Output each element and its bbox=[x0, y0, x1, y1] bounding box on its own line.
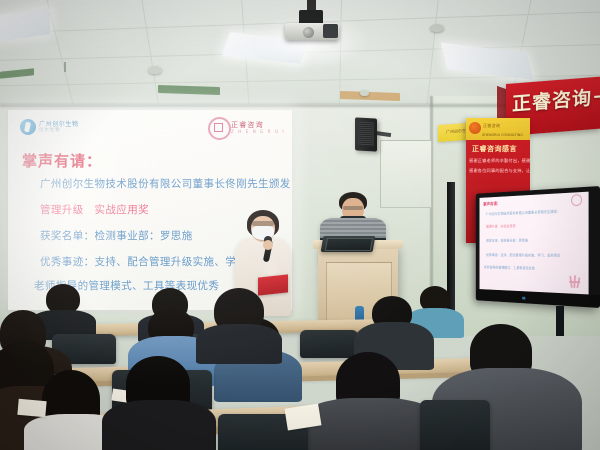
ceiling-projector bbox=[285, 8, 339, 42]
slide-logo-right-sub: Z H E N G R U I bbox=[231, 129, 285, 134]
tv-heading: 掌声有请： bbox=[483, 201, 500, 207]
presenter-hand bbox=[263, 240, 273, 250]
ceiling-hanger bbox=[64, 62, 66, 72]
poster-logo-icon bbox=[469, 122, 481, 134]
tv-power-led-icon bbox=[522, 297, 525, 300]
projector-rear bbox=[323, 24, 338, 38]
glasses-icon bbox=[343, 206, 363, 210]
tv-screen-content: 掌声有请： 广州创尔生物技术股份有限公司董事长佟刚先生颁发： 管理升级 实战应用… bbox=[480, 192, 589, 295]
laptop-screen bbox=[325, 238, 373, 251]
slide-line: 广州创尔生物技术股份有限公司董事长佟刚先生颁发： bbox=[40, 176, 292, 191]
wall-recess-panel bbox=[380, 140, 432, 208]
poster-brand: 正睿咨询 bbox=[483, 123, 500, 129]
chuanger-logo-icon bbox=[20, 119, 36, 135]
tv-line: 管理升级 实战应用奖 bbox=[486, 224, 515, 229]
tv-line: 优秀事迹：支持、配合管理升级实施、学习、运用项目 bbox=[486, 253, 560, 258]
slide-line: 管理升级 实战应用奖 bbox=[40, 202, 149, 217]
paper-sheet bbox=[17, 399, 46, 417]
poster-header-band: 正睿咨询 ZHENGRUI CONSULTING bbox=[466, 118, 530, 140]
podium-laptop bbox=[321, 236, 376, 252]
slide-line: 获奖名单：检测事业部：罗思施 bbox=[40, 228, 193, 243]
slide-heading: 掌声有请： bbox=[22, 150, 102, 171]
chair bbox=[300, 330, 358, 358]
smoke-detector-icon bbox=[360, 90, 369, 96]
slide-logo-left: 广州创尔生物 创尔生物 bbox=[20, 118, 92, 136]
slide-logo-right: 正睿咨询 Z H E N G R U I bbox=[208, 117, 282, 137]
poster-brand-sub: ZHENGRUI CONSULTING bbox=[482, 133, 523, 137]
tv-line: 获奖名单：检测事业部：罗思施 bbox=[486, 239, 528, 244]
chair bbox=[420, 400, 490, 450]
wall-tv-display: 掌声有请： 广州创尔生物技术股份有限公司董事长佟刚先生颁发： 管理升级 实战应用… bbox=[476, 186, 600, 308]
banner-text: 正睿咨询－广 bbox=[512, 80, 600, 116]
smoke-detector-icon bbox=[430, 24, 444, 32]
speaker-grill bbox=[358, 122, 374, 147]
tv-line: 老师指导的管理模式、工具等表现优秀 bbox=[484, 266, 535, 272]
slide-logo-left-sub: 创尔生物 bbox=[39, 127, 61, 133]
award-folder bbox=[258, 274, 288, 295]
zhengrui-logo-icon bbox=[208, 117, 231, 140]
tv-stamp-icon bbox=[568, 275, 581, 289]
tv-stand bbox=[556, 306, 564, 336]
tv-zhengrui-logo-icon bbox=[571, 194, 582, 206]
smoke-detector-icon bbox=[148, 66, 162, 74]
poster-line: 感谢正睿老师的辛勤付出，感谢公司领导的信任、支持和帮助！ bbox=[469, 158, 530, 164]
screenshot-root: 正睿咨询－广 广州创尔生物技术股份有限公司 正睿咨询 ZHENGRUI CONS… bbox=[0, 0, 600, 450]
poster-title: 正睿咨询感言 bbox=[472, 144, 517, 154]
tv-line: 广州创尔生物技术股份有限公司董事长佟刚先生颁发： bbox=[486, 210, 560, 217]
wall-speaker-icon bbox=[355, 117, 377, 151]
poster-line: 感谢各位同事的配合与支持，让我们携手共进、再创佳绩！ bbox=[469, 168, 530, 174]
projector-lens-icon bbox=[303, 27, 314, 38]
